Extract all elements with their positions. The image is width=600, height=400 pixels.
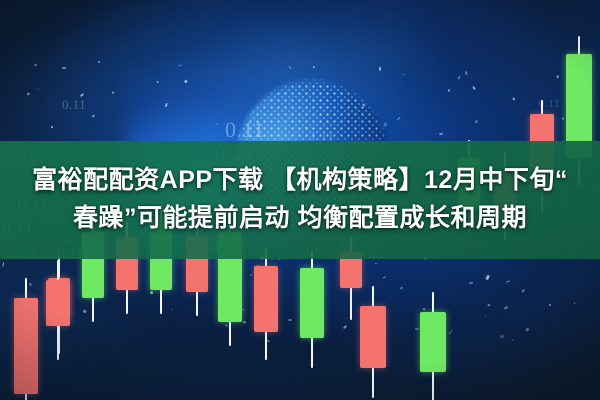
vignette-overlay — [0, 0, 600, 400]
banner-image: 0.110.111.010.110.110.110.110.211.111.01… — [0, 0, 600, 400]
